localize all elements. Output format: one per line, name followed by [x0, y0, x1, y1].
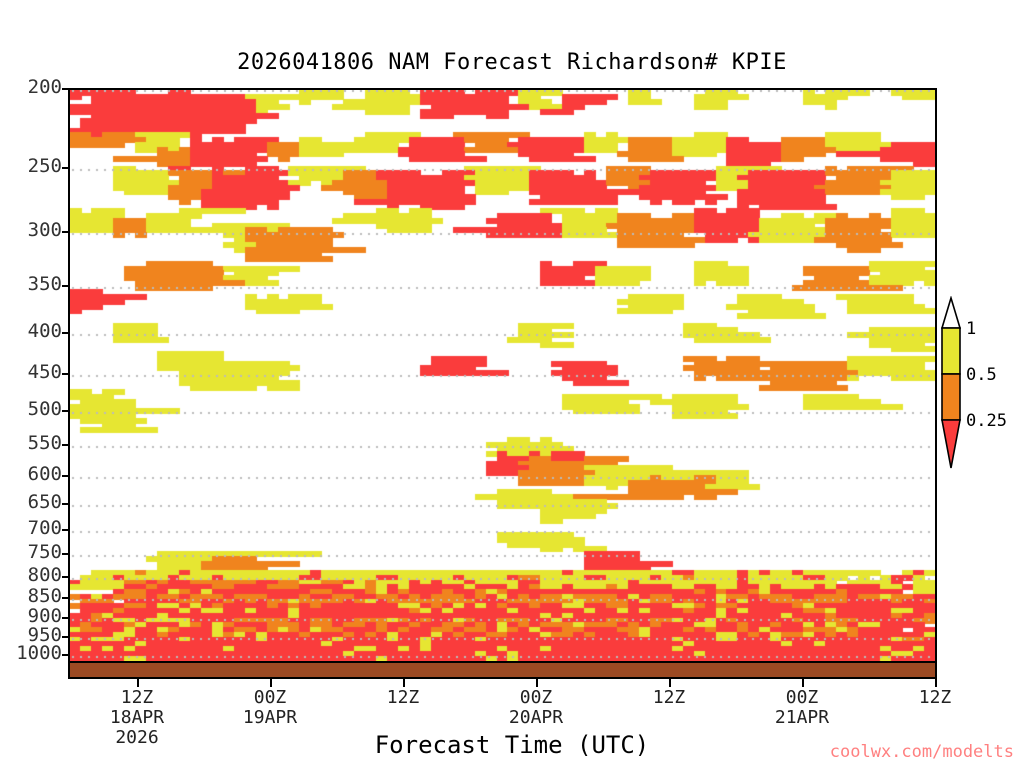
x-tick-label-2: 12Z	[343, 688, 463, 708]
richardson-heatmap-canvas	[70, 90, 935, 661]
y-tick-label-750: 750	[2, 543, 62, 562]
y-tick-mark-650	[62, 503, 69, 505]
y-tick-mark-400	[62, 332, 69, 334]
y-tick-mark-200	[62, 88, 69, 90]
page-title: 2026041806 NAM Forecast Richardson# KPIE	[0, 50, 1024, 75]
y-tick-mark-500	[62, 410, 69, 412]
colorbar-band-yellow	[942, 328, 960, 374]
x-tick-time: 12Z	[387, 687, 420, 708]
y-tick-mark-1000	[62, 654, 69, 656]
colorbar-band-orange	[942, 374, 960, 420]
x-tick-time: 00Z	[254, 687, 287, 708]
x-tick-date: 18APR	[77, 708, 197, 728]
x-tick-time: 12Z	[919, 687, 952, 708]
ground-surface-strip	[68, 663, 937, 679]
x-tick-label-1: 00Z19APR	[210, 688, 330, 728]
y-tick-label-200: 200	[2, 78, 62, 97]
x-tick-mark-0	[137, 679, 139, 687]
y-tick-label-650: 650	[2, 493, 62, 512]
colorbar-label-0p25: 0.25	[966, 413, 1007, 430]
y-tick-label-450: 450	[2, 363, 62, 382]
y-tick-label-550: 550	[2, 434, 62, 453]
x-tick-mark-5	[802, 679, 804, 687]
y-tick-mark-700	[62, 529, 69, 531]
y-tick-mark-600	[62, 475, 69, 477]
y-tick-label-250: 250	[2, 157, 62, 176]
x-tick-date: 19APR	[210, 708, 330, 728]
x-tick-label-3: 00Z20APR	[476, 688, 596, 728]
x-tick-label-5: 00Z21APR	[742, 688, 862, 728]
x-tick-time: 00Z	[520, 687, 553, 708]
y-tick-mark-850	[62, 597, 69, 599]
colorbar-swatches	[940, 296, 1024, 476]
y-tick-mark-900	[62, 617, 69, 619]
colorbar-above-arrow	[942, 298, 960, 328]
x-tick-date: 20APR	[476, 708, 596, 728]
y-tick-mark-250	[62, 167, 69, 169]
x-tick-mark-3	[536, 679, 538, 687]
x-tick-label-4: 12Z	[609, 688, 729, 708]
y-axis: 2002503003504004505005506006507007508008…	[0, 0, 62, 768]
x-tick-mark-2	[403, 679, 405, 687]
y-tick-mark-300	[62, 231, 69, 233]
x-tick-mark-6	[935, 679, 937, 687]
x-tick-date: 21APR	[742, 708, 862, 728]
x-tick-time: 00Z	[786, 687, 819, 708]
x-tick-time: 12Z	[653, 687, 686, 708]
colorbar-below-arrow	[942, 420, 960, 468]
colorbar-label-0p5: 0.5	[966, 367, 997, 384]
y-tick-label-850: 850	[2, 587, 62, 606]
y-tick-label-1000: 1000	[2, 644, 62, 663]
y-tick-label-600: 600	[2, 465, 62, 484]
y-tick-label-700: 700	[2, 519, 62, 538]
y-tick-label-300: 300	[2, 221, 62, 240]
plot-area	[68, 88, 937, 663]
watermark-link[interactable]: coolwx.com/modelts	[830, 742, 1014, 762]
chart-page: 2026041806 NAM Forecast Richardson# KPIE…	[0, 0, 1024, 768]
y-tick-mark-550	[62, 444, 69, 446]
x-tick-mark-1	[270, 679, 272, 687]
x-tick-mark-4	[669, 679, 671, 687]
y-tick-label-350: 350	[2, 275, 62, 294]
colorbar-label-1: 1	[966, 321, 976, 338]
colorbar: 1 0.5 0.25	[940, 296, 1024, 476]
y-tick-mark-350	[62, 285, 69, 287]
y-tick-mark-750	[62, 553, 69, 555]
y-tick-mark-450	[62, 373, 69, 375]
y-tick-mark-800	[62, 576, 69, 578]
y-tick-label-500: 500	[2, 400, 62, 419]
y-tick-label-800: 800	[2, 566, 62, 585]
x-tick-time: 12Z	[121, 687, 154, 708]
y-tick-mark-950	[62, 636, 69, 638]
x-tick-label-6: 12Z	[875, 688, 995, 708]
y-tick-label-400: 400	[2, 322, 62, 341]
